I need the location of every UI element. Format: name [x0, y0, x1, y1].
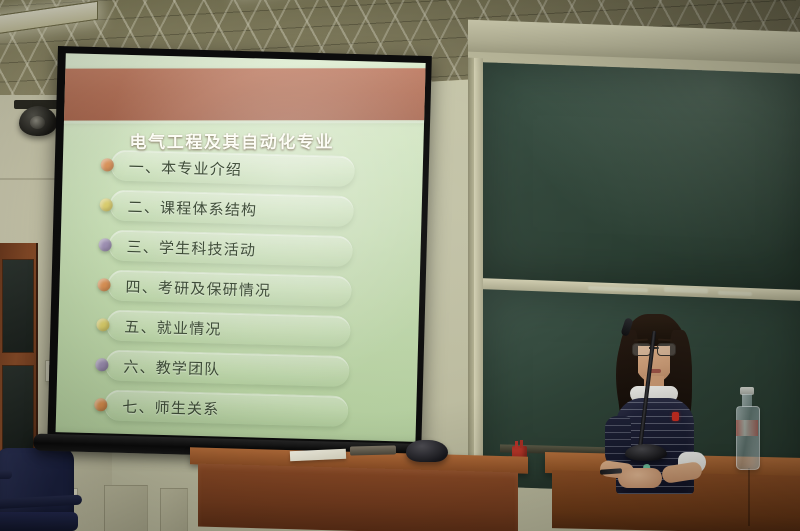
wall-panel [160, 488, 188, 531]
agenda-item-label: 三、学生科技活动 [126, 236, 256, 260]
bottle-label [736, 420, 758, 436]
presentation-slide: 电气工程及其自动化专业 一、本专业介绍 二、课程体系结构 [56, 53, 426, 442]
badge [672, 412, 679, 421]
slide-agenda-list: 一、本专业介绍 二、课程体系结构 三、学生科技活动 [90, 146, 397, 434]
door-window [2, 259, 34, 353]
microphone-base[interactable] [625, 444, 667, 461]
agenda-item-label: 一、本专业介绍 [128, 156, 242, 180]
slide-title: 电气工程及其自动化专业 [130, 128, 335, 153]
list-item[interactable]: 七、师生关系 [90, 386, 391, 434]
chalkboard-stile [474, 58, 483, 488]
door-window [2, 365, 34, 451]
wall-panel [104, 485, 148, 531]
agenda-item-label: 七、师生关系 [122, 396, 220, 420]
hands [618, 468, 662, 488]
desk-object[interactable] [350, 445, 396, 455]
glasses-lens [657, 343, 676, 356]
agenda-item-label: 四、考研及保研情况 [125, 276, 271, 301]
bag[interactable] [406, 440, 448, 462]
podium-seam [748, 468, 750, 526]
chair-seat [0, 512, 78, 531]
chair-armrest [0, 470, 12, 479]
water-bottle[interactable] [736, 406, 760, 470]
ceiling-dome-camera-icon [19, 106, 57, 136]
agenda-item-label: 二、课程体系结构 [127, 196, 257, 220]
lectern-table-front [198, 464, 518, 531]
glasses-lens [632, 343, 651, 356]
projection-screen: 电气工程及其自动化专业 一、本专业介绍 二、课程体系结构 [47, 46, 432, 468]
screen-frame: 电气工程及其自动化专业 一、本专业介绍 二、课程体系结构 [47, 46, 431, 448]
chalkboard-sheen [482, 62, 800, 292]
agenda-item-label: 六、教学团队 [123, 356, 221, 380]
agenda-item-label: 五、就业情况 [124, 316, 222, 340]
lecture-hall-photo: 电气工程及其自动化专业 一、本专业介绍 二、课程体系结构 [0, 0, 800, 531]
slide-title-band [56, 68, 426, 120]
